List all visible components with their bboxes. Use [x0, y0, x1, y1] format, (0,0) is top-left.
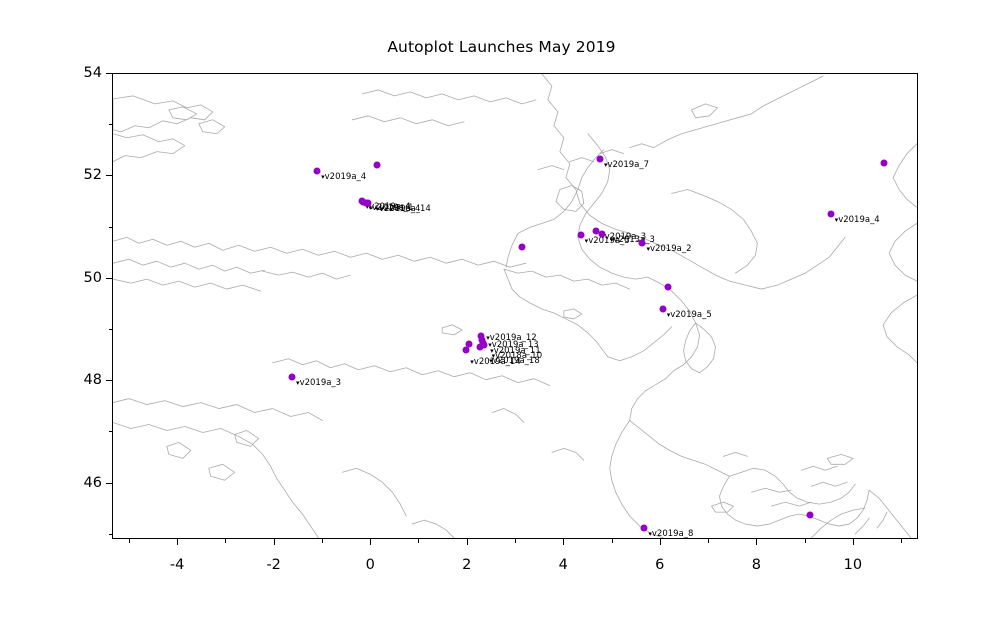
data-point-label: ▾v2018a_14	[380, 205, 430, 214]
data-point-label: ▾v2019a_5	[667, 310, 712, 319]
y-axis-tick	[109, 534, 113, 535]
y-axis-tick-label: 52	[66, 167, 102, 183]
page-title: Autoplot Launches May 2019	[0, 38, 1003, 56]
x-axis-tick-label: 4	[559, 557, 568, 573]
x-axis-tick-label: 2	[462, 557, 471, 573]
x-axis-tick-label: 6	[655, 557, 664, 573]
y-axis-tick	[106, 380, 112, 381]
plot-area: ▾v2019a_4▾v2019a_4▾v2019a_1▾v2019a_4▾v20…	[112, 73, 918, 539]
data-point-marker[interactable]	[463, 346, 470, 353]
data-point-label: ▾v2019a_4	[321, 173, 366, 182]
chart-canvas: Autoplot Launches May 2019	[0, 0, 1003, 633]
y-axis-tick	[106, 278, 112, 279]
data-point-marker[interactable]	[827, 211, 834, 218]
x-axis-tick	[708, 539, 709, 543]
x-axis-tick-label: 10	[844, 557, 862, 573]
x-axis-tick	[467, 539, 468, 545]
y-axis-tick	[106, 483, 112, 484]
data-point-label: ▾v2019a_4	[835, 216, 880, 225]
data-point-marker[interactable]	[374, 162, 381, 169]
y-axis-tick-label: 54	[66, 65, 102, 81]
data-points-layer: ▾v2019a_4▾v2019a_4▾v2019a_1▾v2019a_4▾v20…	[113, 74, 917, 538]
y-axis-tick-label: 50	[66, 270, 102, 286]
x-axis-tick	[274, 539, 275, 545]
y-axis-tick	[109, 431, 113, 432]
data-point-marker[interactable]	[659, 305, 666, 312]
data-point-label: ▾v2019a_3	[296, 379, 341, 388]
x-axis-tick-label: 0	[366, 557, 375, 573]
x-axis-tick	[563, 539, 564, 545]
x-axis-tick	[225, 539, 226, 543]
x-axis-tick	[901, 539, 902, 543]
x-axis-tick	[853, 539, 854, 545]
y-axis-tick	[106, 73, 112, 74]
data-point-marker[interactable]	[641, 524, 648, 531]
data-point-marker[interactable]	[289, 374, 296, 381]
data-point-marker[interactable]	[577, 231, 584, 238]
x-axis-tick	[370, 539, 371, 545]
data-point-marker[interactable]	[880, 160, 887, 167]
x-axis-tick-label: -2	[266, 557, 280, 573]
x-axis-tick	[418, 539, 419, 543]
data-point-marker[interactable]	[518, 244, 525, 251]
y-axis-tick	[109, 329, 113, 330]
x-axis-tick	[660, 539, 661, 545]
data-point-marker[interactable]	[807, 512, 814, 519]
x-axis-tick	[612, 539, 613, 543]
x-axis-tick	[322, 539, 323, 543]
y-axis-tick-label: 48	[66, 372, 102, 388]
data-point-label: ▾v2019a_2	[646, 245, 691, 254]
y-axis-tick	[109, 124, 113, 125]
y-axis-tick	[106, 175, 112, 176]
data-point-marker[interactable]	[314, 168, 321, 175]
data-point-marker[interactable]	[598, 230, 605, 237]
data-point-marker[interactable]	[664, 284, 671, 291]
x-axis-tick	[129, 539, 130, 543]
x-axis-tick	[515, 539, 516, 543]
data-point-label: ▾v2019a_8	[648, 529, 693, 538]
data-point-label: ▾v2019a_7	[604, 161, 649, 170]
y-axis-tick-label: 46	[66, 475, 102, 491]
data-point-label: ▾v2019a_18	[489, 357, 539, 366]
x-axis-tick	[756, 539, 757, 545]
data-point-marker[interactable]	[477, 344, 484, 351]
x-axis-tick-label: -4	[170, 557, 184, 573]
x-axis-tick	[177, 539, 178, 545]
data-point-label: ▾v2013a_3	[610, 236, 655, 245]
x-axis-tick-label: 8	[752, 557, 761, 573]
data-point-marker[interactable]	[639, 239, 646, 246]
data-point-marker[interactable]	[596, 156, 603, 163]
y-axis-tick	[109, 227, 113, 228]
x-axis-tick	[805, 539, 806, 543]
data-point-marker[interactable]	[365, 200, 372, 207]
